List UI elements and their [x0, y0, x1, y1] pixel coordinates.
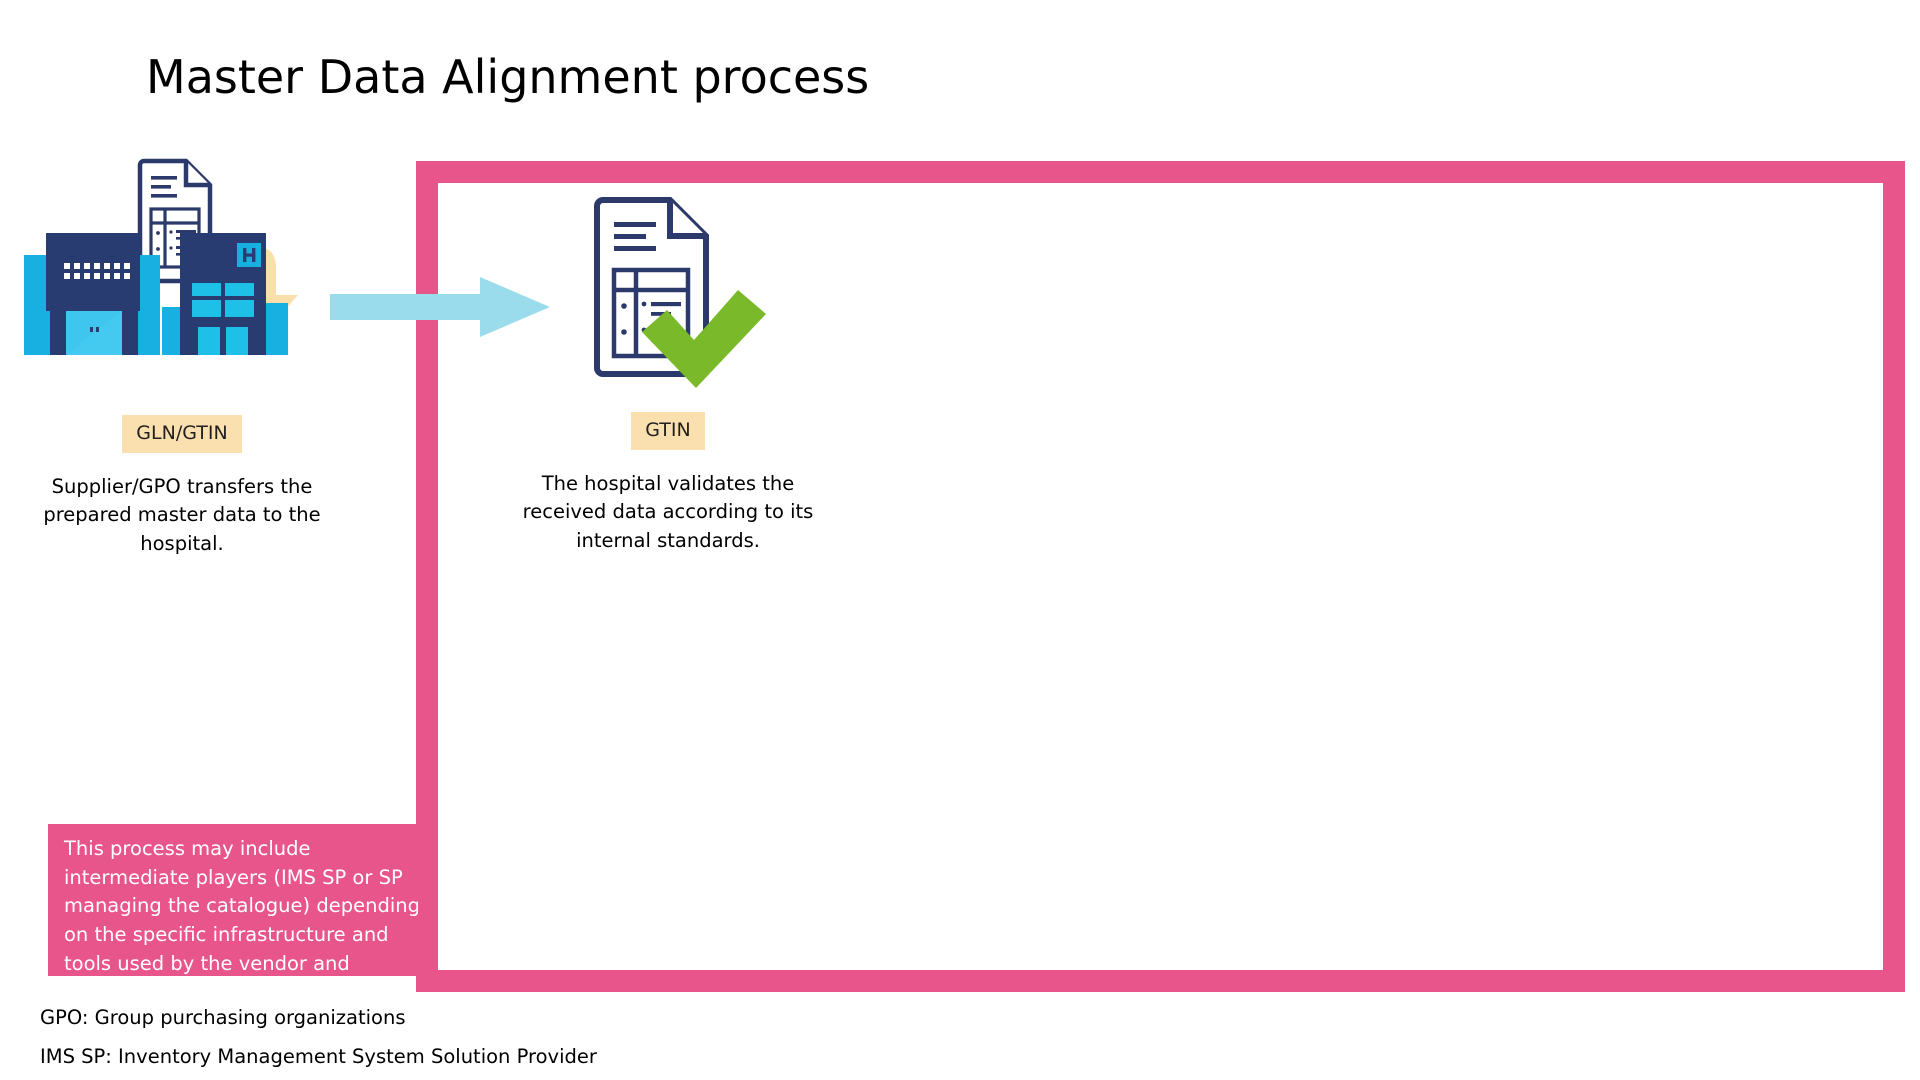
legend-item-ims-sp: IMS SP: Inventory Management System Solu…	[40, 1047, 1240, 1067]
factory-building-icon	[24, 233, 160, 355]
page-title: Master Data Alignment process	[146, 52, 869, 103]
supplier-to-hospital-transfer-illustration	[12, 155, 352, 390]
stage-2-badge: GTIN	[631, 412, 704, 450]
stage-1: GLN/GTIN Supplier/GPO transfers the prep…	[12, 155, 352, 558]
abbreviation-legend: GPO: Group purchasing organizations IMS …	[40, 1008, 1240, 1080]
slide-canvas: Master Data Alignment process	[0, 0, 1920, 1080]
process-note-callout: This process may include intermediate pl…	[48, 824, 418, 976]
stage-1-badge: GLN/GTIN	[122, 415, 241, 453]
legend-item-gpo: GPO: Group purchasing organizations	[40, 1008, 1240, 1028]
validated-document-illustration	[498, 180, 838, 390]
stage-2: GTIN The hospital validates the received…	[498, 180, 838, 555]
process-note-text: This process may include intermediate pl…	[64, 835, 418, 976]
stage-1-caption: Supplier/GPO transfers the prepared mast…	[12, 473, 352, 558]
stage-2-caption: The hospital validates the received data…	[498, 470, 838, 555]
